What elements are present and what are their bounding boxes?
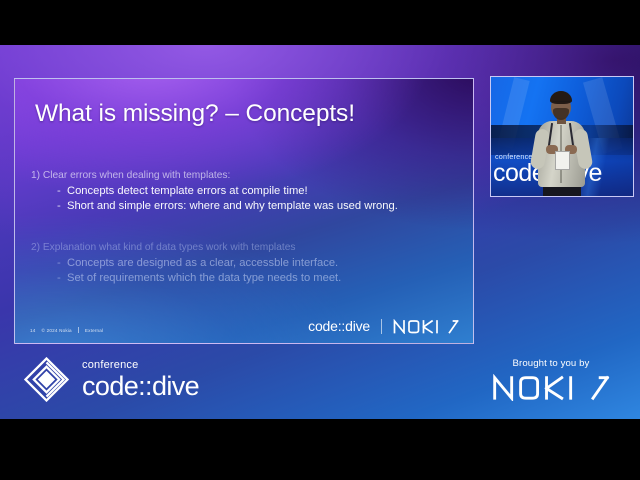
bullet-group-2-item-2: -Set of requirements which the data type… <box>31 271 461 287</box>
footer-separator-icon <box>78 327 79 333</box>
nokia-sponsor-block: Brought to you by <box>492 358 610 401</box>
slide-page-number: 14 <box>30 328 36 333</box>
bottom-conference-label: conference <box>82 360 199 371</box>
bullet-group-1-item-2: -Short and simple errors: where and why … <box>31 199 461 215</box>
codedive-text-block: conference code::dive <box>82 360 199 400</box>
presentation-slide: What is missing? – Concepts! 1) Clear er… <box>14 78 474 344</box>
bullet-dash-icon: - <box>57 199 67 215</box>
slide-bullet-group-2: 2) Explanation what kind of data types w… <box>31 240 461 287</box>
bottom-nokia-logo <box>492 374 610 401</box>
conference-video-frame: What is missing? – Concepts! 1) Clear er… <box>0 45 640 419</box>
speaker-badge <box>555 151 570 170</box>
slide-codedive-wordmark: code::dive <box>308 318 370 334</box>
slide-footer-brands: code::dive <box>308 318 459 334</box>
bullet-group-1-item-1-text: Concepts detect template errors at compi… <box>67 185 308 197</box>
letterbox-bottom <box>0 419 640 480</box>
codedive-diamond-icon <box>24 357 69 402</box>
slide-footer-meta: 14 © 2024 Nokia External <box>30 327 103 333</box>
bullet-group-2-item-2-text: Set of requirements which the data type … <box>67 272 341 284</box>
brand-divider-icon <box>381 319 382 334</box>
video-player-stage: What is missing? – Concepts! 1) Clear er… <box>0 0 640 480</box>
slide-title: What is missing? – Concepts! <box>35 100 355 128</box>
bullet-group-2-item-1-text: Concepts are designed as a clear, access… <box>67 257 338 269</box>
bullet-group-2-item-1: -Concepts are designed as a clear, acces… <box>31 256 461 272</box>
bullet-group-1-item-1: -Concepts detect template errors at comp… <box>31 184 461 200</box>
codedive-logo-block: conference code::dive <box>24 357 199 402</box>
bullet-group-1-heading: 1) Clear errors when dealing with templa… <box>31 168 461 184</box>
bottom-codedive-label: code::dive <box>82 373 199 400</box>
bullet-group-1-item-2-text: Short and simple errors: where and why t… <box>67 200 398 212</box>
bullet-group-2-heading: 2) Explanation what kind of data types w… <box>31 240 461 256</box>
slide-bullet-group-1: 1) Clear errors when dealing with templa… <box>31 168 461 215</box>
bullet-dash-icon: - <box>57 256 67 272</box>
bullet-dash-icon: - <box>57 271 67 287</box>
slide-classification: External <box>85 328 103 333</box>
letterbox-top <box>0 0 640 45</box>
bullet-dash-icon: - <box>57 184 67 200</box>
brought-to-you-by-label: Brought to you by <box>492 358 610 369</box>
bottom-branding-bar: conference code::dive Brought to you by <box>0 344 640 419</box>
speaker-glasses-icon <box>552 101 570 106</box>
speaker-video-inset[interactable]: conference code::dive <box>490 76 634 197</box>
slide-copyright: © 2024 Nokia <box>42 328 72 333</box>
slide-nokia-logo <box>393 319 459 334</box>
